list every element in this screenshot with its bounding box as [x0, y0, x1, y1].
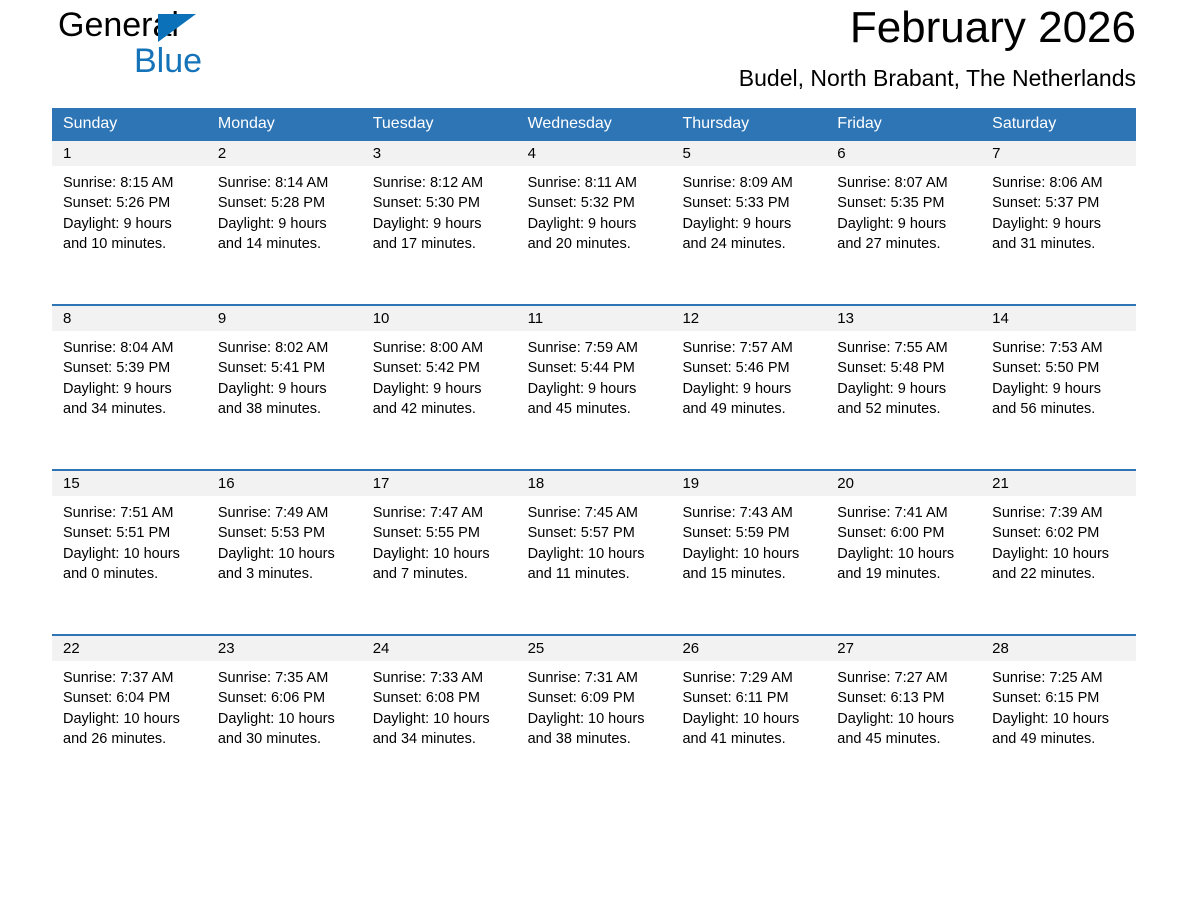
daylight-line2: and 15 minutes.	[682, 564, 820, 584]
day-number: 26	[671, 636, 826, 661]
week-row: 8 Sunrise: 8:04 AM Sunset: 5:39 PM Dayli…	[52, 304, 1136, 469]
day-number: 4	[517, 141, 672, 166]
daylight-line1: Daylight: 10 hours	[837, 709, 975, 729]
day-cell[interactable]: 6 Sunrise: 8:07 AM Sunset: 5:35 PM Dayli…	[826, 141, 981, 304]
sunrise-text: Sunrise: 8:04 AM	[63, 338, 201, 358]
day-info: Sunrise: 7:39 AM Sunset: 6:02 PM Dayligh…	[981, 496, 1136, 584]
daylight-line1: Daylight: 9 hours	[63, 379, 201, 399]
weekday-sunday: Sunday	[52, 108, 207, 139]
daylight-line1: Daylight: 9 hours	[528, 379, 666, 399]
day-number: 19	[671, 471, 826, 496]
day-cell[interactable]: 28 Sunrise: 7:25 AM Sunset: 6:15 PM Dayl…	[981, 636, 1136, 799]
daylight-line1: Daylight: 10 hours	[682, 709, 820, 729]
day-number: 25	[517, 636, 672, 661]
sunset-text: Sunset: 5:48 PM	[837, 358, 975, 378]
sunset-text: Sunset: 5:46 PM	[682, 358, 820, 378]
sunset-text: Sunset: 5:53 PM	[218, 523, 356, 543]
daylight-line2: and 30 minutes.	[218, 729, 356, 749]
weekday-monday: Monday	[207, 108, 362, 139]
day-info: Sunrise: 7:57 AM Sunset: 5:46 PM Dayligh…	[671, 331, 826, 419]
daylight-line2: and 27 minutes.	[837, 234, 975, 254]
daylight-line1: Daylight: 9 hours	[63, 214, 201, 234]
daylight-line1: Daylight: 9 hours	[218, 379, 356, 399]
sunrise-text: Sunrise: 7:57 AM	[682, 338, 820, 358]
sunset-text: Sunset: 5:57 PM	[528, 523, 666, 543]
daylight-line1: Daylight: 10 hours	[373, 709, 511, 729]
page-header: General Blue February 2026 Budel, North …	[52, 0, 1136, 108]
sunrise-text: Sunrise: 8:02 AM	[218, 338, 356, 358]
weekday-wednesday: Wednesday	[517, 108, 672, 139]
week-row: 15 Sunrise: 7:51 AM Sunset: 5:51 PM Dayl…	[52, 469, 1136, 634]
day-number: 7	[981, 141, 1136, 166]
day-number: 18	[517, 471, 672, 496]
sunrise-text: Sunrise: 7:49 AM	[218, 503, 356, 523]
day-number: 8	[52, 306, 207, 331]
day-number: 17	[362, 471, 517, 496]
sunrise-text: Sunrise: 8:07 AM	[837, 173, 975, 193]
sunset-text: Sunset: 6:08 PM	[373, 688, 511, 708]
weekday-thursday: Thursday	[671, 108, 826, 139]
day-cell[interactable]: 23 Sunrise: 7:35 AM Sunset: 6:06 PM Dayl…	[207, 636, 362, 799]
sunset-text: Sunset: 6:15 PM	[992, 688, 1130, 708]
sunrise-text: Sunrise: 8:11 AM	[528, 173, 666, 193]
day-cell[interactable]: 24 Sunrise: 7:33 AM Sunset: 6:08 PM Dayl…	[362, 636, 517, 799]
day-info: Sunrise: 8:02 AM Sunset: 5:41 PM Dayligh…	[207, 331, 362, 419]
day-number: 15	[52, 471, 207, 496]
generalblue-logo[interactable]: General Blue	[58, 6, 318, 92]
sunrise-text: Sunrise: 7:31 AM	[528, 668, 666, 688]
day-info: Sunrise: 7:29 AM Sunset: 6:11 PM Dayligh…	[671, 661, 826, 749]
sunrise-text: Sunrise: 8:00 AM	[373, 338, 511, 358]
day-cell[interactable]: 7 Sunrise: 8:06 AM Sunset: 5:37 PM Dayli…	[981, 141, 1136, 304]
daylight-line2: and 7 minutes.	[373, 564, 511, 584]
daylight-line2: and 52 minutes.	[837, 399, 975, 419]
daylight-line2: and 49 minutes.	[992, 729, 1130, 749]
day-number: 1	[52, 141, 207, 166]
daylight-line1: Daylight: 10 hours	[373, 544, 511, 564]
sunset-text: Sunset: 5:28 PM	[218, 193, 356, 213]
day-info: Sunrise: 7:45 AM Sunset: 5:57 PM Dayligh…	[517, 496, 672, 584]
day-info: Sunrise: 8:00 AM Sunset: 5:42 PM Dayligh…	[362, 331, 517, 419]
daylight-line2: and 26 minutes.	[63, 729, 201, 749]
sunset-text: Sunset: 5:32 PM	[528, 193, 666, 213]
daylight-line2: and 42 minutes.	[373, 399, 511, 419]
day-info: Sunrise: 8:06 AM Sunset: 5:37 PM Dayligh…	[981, 166, 1136, 254]
daylight-line1: Daylight: 9 hours	[837, 379, 975, 399]
day-cell[interactable]: 15 Sunrise: 7:51 AM Sunset: 5:51 PM Dayl…	[52, 471, 207, 634]
daylight-line1: Daylight: 10 hours	[218, 709, 356, 729]
daylight-line2: and 56 minutes.	[992, 399, 1130, 419]
day-cell[interactable]: 21 Sunrise: 7:39 AM Sunset: 6:02 PM Dayl…	[981, 471, 1136, 634]
sunrise-text: Sunrise: 7:45 AM	[528, 503, 666, 523]
sunset-text: Sunset: 5:41 PM	[218, 358, 356, 378]
daylight-line1: Daylight: 10 hours	[992, 709, 1130, 729]
day-cell[interactable]: 16 Sunrise: 7:49 AM Sunset: 5:53 PM Dayl…	[207, 471, 362, 634]
day-number: 6	[826, 141, 981, 166]
day-info: Sunrise: 7:43 AM Sunset: 5:59 PM Dayligh…	[671, 496, 826, 584]
day-info: Sunrise: 7:51 AM Sunset: 5:51 PM Dayligh…	[52, 496, 207, 584]
sunrise-text: Sunrise: 7:35 AM	[218, 668, 356, 688]
sunset-text: Sunset: 5:35 PM	[837, 193, 975, 213]
day-cell[interactable]: 4 Sunrise: 8:11 AM Sunset: 5:32 PM Dayli…	[517, 141, 672, 304]
day-number: 13	[826, 306, 981, 331]
daylight-line1: Daylight: 10 hours	[63, 544, 201, 564]
title-block: February 2026 Budel, North Brabant, The …	[376, 0, 1136, 94]
day-number: 27	[826, 636, 981, 661]
day-info: Sunrise: 7:31 AM Sunset: 6:09 PM Dayligh…	[517, 661, 672, 749]
daylight-line2: and 45 minutes.	[528, 399, 666, 419]
sunset-text: Sunset: 6:11 PM	[682, 688, 820, 708]
sunset-text: Sunset: 5:51 PM	[63, 523, 201, 543]
daylight-line2: and 49 minutes.	[682, 399, 820, 419]
daylight-line1: Daylight: 9 hours	[218, 214, 356, 234]
day-number: 5	[671, 141, 826, 166]
sunrise-text: Sunrise: 7:41 AM	[837, 503, 975, 523]
sunset-text: Sunset: 5:37 PM	[992, 193, 1130, 213]
weekday-friday: Friday	[826, 108, 981, 139]
daylight-line1: Daylight: 10 hours	[992, 544, 1130, 564]
sunrise-text: Sunrise: 8:06 AM	[992, 173, 1130, 193]
daylight-line1: Daylight: 10 hours	[528, 709, 666, 729]
sunrise-text: Sunrise: 7:59 AM	[528, 338, 666, 358]
week-row: 1 Sunrise: 8:15 AM Sunset: 5:26 PM Dayli…	[52, 139, 1136, 304]
day-number: 9	[207, 306, 362, 331]
sunrise-text: Sunrise: 8:09 AM	[682, 173, 820, 193]
daylight-line1: Daylight: 9 hours	[992, 214, 1130, 234]
daylight-line2: and 31 minutes.	[992, 234, 1130, 254]
sunset-text: Sunset: 5:44 PM	[528, 358, 666, 378]
daylight-line1: Daylight: 9 hours	[373, 379, 511, 399]
daylight-line2: and 38 minutes.	[218, 399, 356, 419]
logo-triangle-icon	[158, 14, 196, 42]
day-info: Sunrise: 8:04 AM Sunset: 5:39 PM Dayligh…	[52, 331, 207, 419]
day-cell[interactable]: 25 Sunrise: 7:31 AM Sunset: 6:09 PM Dayl…	[517, 636, 672, 799]
sunset-text: Sunset: 6:00 PM	[837, 523, 975, 543]
day-cell[interactable]: 18 Sunrise: 7:45 AM Sunset: 5:57 PM Dayl…	[517, 471, 672, 634]
sunrise-text: Sunrise: 7:53 AM	[992, 338, 1130, 358]
sunrise-text: Sunrise: 7:43 AM	[682, 503, 820, 523]
daylight-line1: Daylight: 9 hours	[373, 214, 511, 234]
daylight-line2: and 3 minutes.	[218, 564, 356, 584]
daylight-line2: and 10 minutes.	[63, 234, 201, 254]
daylight-line2: and 20 minutes.	[528, 234, 666, 254]
sunset-text: Sunset: 6:09 PM	[528, 688, 666, 708]
day-cell[interactable]: 5 Sunrise: 8:09 AM Sunset: 5:33 PM Dayli…	[671, 141, 826, 304]
day-cell[interactable]: 11 Sunrise: 7:59 AM Sunset: 5:44 PM Dayl…	[517, 306, 672, 469]
day-cell[interactable]: 8 Sunrise: 8:04 AM Sunset: 5:39 PM Dayli…	[52, 306, 207, 469]
day-number: 28	[981, 636, 1136, 661]
sunrise-text: Sunrise: 8:14 AM	[218, 173, 356, 193]
day-cell[interactable]: 27 Sunrise: 7:27 AM Sunset: 6:13 PM Dayl…	[826, 636, 981, 799]
daylight-line1: Daylight: 9 hours	[992, 379, 1130, 399]
day-info: Sunrise: 8:11 AM Sunset: 5:32 PM Dayligh…	[517, 166, 672, 254]
day-number: 14	[981, 306, 1136, 331]
page-subtitle: Budel, North Brabant, The Netherlands	[376, 62, 1136, 94]
day-info: Sunrise: 8:09 AM Sunset: 5:33 PM Dayligh…	[671, 166, 826, 254]
page-title: February 2026	[376, 0, 1136, 56]
day-number: 3	[362, 141, 517, 166]
sunset-text: Sunset: 5:30 PM	[373, 193, 511, 213]
daylight-line2: and 34 minutes.	[63, 399, 201, 419]
daylight-line1: Daylight: 9 hours	[682, 214, 820, 234]
sunset-text: Sunset: 5:55 PM	[373, 523, 511, 543]
daylight-line2: and 22 minutes.	[992, 564, 1130, 584]
day-cell[interactable]: 20 Sunrise: 7:41 AM Sunset: 6:00 PM Dayl…	[826, 471, 981, 634]
day-info: Sunrise: 8:07 AM Sunset: 5:35 PM Dayligh…	[826, 166, 981, 254]
day-info: Sunrise: 7:25 AM Sunset: 6:15 PM Dayligh…	[981, 661, 1136, 749]
sunset-text: Sunset: 5:39 PM	[63, 358, 201, 378]
sunrise-text: Sunrise: 7:51 AM	[63, 503, 201, 523]
day-info: Sunrise: 8:14 AM Sunset: 5:28 PM Dayligh…	[207, 166, 362, 254]
daylight-line2: and 17 minutes.	[373, 234, 511, 254]
day-info: Sunrise: 7:47 AM Sunset: 5:55 PM Dayligh…	[362, 496, 517, 584]
day-info: Sunrise: 7:35 AM Sunset: 6:06 PM Dayligh…	[207, 661, 362, 749]
sunrise-text: Sunrise: 8:15 AM	[63, 173, 201, 193]
day-info: Sunrise: 7:27 AM Sunset: 6:13 PM Dayligh…	[826, 661, 981, 749]
day-cell[interactable]: 10 Sunrise: 8:00 AM Sunset: 5:42 PM Dayl…	[362, 306, 517, 469]
day-cell[interactable]: 12 Sunrise: 7:57 AM Sunset: 5:46 PM Dayl…	[671, 306, 826, 469]
daylight-line2: and 11 minutes.	[528, 564, 666, 584]
daylight-line1: Daylight: 9 hours	[837, 214, 975, 234]
sunset-text: Sunset: 5:50 PM	[992, 358, 1130, 378]
weekday-saturday: Saturday	[981, 108, 1136, 139]
daylight-line1: Daylight: 10 hours	[528, 544, 666, 564]
daylight-line1: Daylight: 10 hours	[837, 544, 975, 564]
daylight-line1: Daylight: 9 hours	[682, 379, 820, 399]
sunset-text: Sunset: 6:13 PM	[837, 688, 975, 708]
day-number: 20	[826, 471, 981, 496]
weekday-header-row: Sunday Monday Tuesday Wednesday Thursday…	[52, 108, 1136, 139]
daylight-line2: and 38 minutes.	[528, 729, 666, 749]
daylight-line1: Daylight: 10 hours	[63, 709, 201, 729]
day-cell[interactable]: 22 Sunrise: 7:37 AM Sunset: 6:04 PM Dayl…	[52, 636, 207, 799]
day-info: Sunrise: 7:37 AM Sunset: 6:04 PM Dayligh…	[52, 661, 207, 749]
day-number: 23	[207, 636, 362, 661]
sunset-text: Sunset: 5:42 PM	[373, 358, 511, 378]
day-number: 22	[52, 636, 207, 661]
day-number: 24	[362, 636, 517, 661]
day-number: 12	[671, 306, 826, 331]
day-cell[interactable]: 13 Sunrise: 7:55 AM Sunset: 5:48 PM Dayl…	[826, 306, 981, 469]
day-cell[interactable]: 14 Sunrise: 7:53 AM Sunset: 5:50 PM Dayl…	[981, 306, 1136, 469]
sunset-text: Sunset: 6:02 PM	[992, 523, 1130, 543]
sunset-text: Sunset: 5:33 PM	[682, 193, 820, 213]
daylight-line2: and 34 minutes.	[373, 729, 511, 749]
day-info: Sunrise: 8:12 AM Sunset: 5:30 PM Dayligh…	[362, 166, 517, 254]
sunset-text: Sunset: 6:04 PM	[63, 688, 201, 708]
daylight-line2: and 24 minutes.	[682, 234, 820, 254]
day-cell[interactable]: 9 Sunrise: 8:02 AM Sunset: 5:41 PM Dayli…	[207, 306, 362, 469]
sunrise-text: Sunrise: 7:55 AM	[837, 338, 975, 358]
day-number: 16	[207, 471, 362, 496]
daylight-line1: Daylight: 10 hours	[682, 544, 820, 564]
logo-word-blue: Blue	[134, 42, 202, 80]
calendar-grid: Sunday Monday Tuesday Wednesday Thursday…	[52, 108, 1136, 799]
daylight-line2: and 0 minutes.	[63, 564, 201, 584]
sunrise-text: Sunrise: 7:37 AM	[63, 668, 201, 688]
sunrise-text: Sunrise: 7:27 AM	[837, 668, 975, 688]
day-cell[interactable]: 17 Sunrise: 7:47 AM Sunset: 5:55 PM Dayl…	[362, 471, 517, 634]
sunset-text: Sunset: 5:59 PM	[682, 523, 820, 543]
day-number: 21	[981, 471, 1136, 496]
day-info: Sunrise: 7:41 AM Sunset: 6:00 PM Dayligh…	[826, 496, 981, 584]
sunrise-text: Sunrise: 7:29 AM	[682, 668, 820, 688]
day-info: Sunrise: 8:15 AM Sunset: 5:26 PM Dayligh…	[52, 166, 207, 254]
sunset-text: Sunset: 6:06 PM	[218, 688, 356, 708]
sunrise-text: Sunrise: 7:47 AM	[373, 503, 511, 523]
daylight-line2: and 19 minutes.	[837, 564, 975, 584]
sunrise-text: Sunrise: 7:39 AM	[992, 503, 1130, 523]
daylight-line1: Daylight: 10 hours	[218, 544, 356, 564]
daylight-line1: Daylight: 9 hours	[528, 214, 666, 234]
sunrise-text: Sunrise: 7:25 AM	[992, 668, 1130, 688]
day-cell[interactable]: 19 Sunrise: 7:43 AM Sunset: 5:59 PM Dayl…	[671, 471, 826, 634]
day-number: 11	[517, 306, 672, 331]
daylight-line2: and 41 minutes.	[682, 729, 820, 749]
calendar-page: General Blue February 2026 Budel, North …	[0, 0, 1188, 918]
day-cell[interactable]: 1 Sunrise: 8:15 AM Sunset: 5:26 PM Dayli…	[52, 141, 207, 304]
day-number: 2	[207, 141, 362, 166]
daylight-line2: and 45 minutes.	[837, 729, 975, 749]
week-row: 22 Sunrise: 7:37 AM Sunset: 6:04 PM Dayl…	[52, 634, 1136, 799]
day-info: Sunrise: 7:53 AM Sunset: 5:50 PM Dayligh…	[981, 331, 1136, 419]
sunset-text: Sunset: 5:26 PM	[63, 193, 201, 213]
weekday-tuesday: Tuesday	[362, 108, 517, 139]
day-info: Sunrise: 7:49 AM Sunset: 5:53 PM Dayligh…	[207, 496, 362, 584]
day-cell[interactable]: 26 Sunrise: 7:29 AM Sunset: 6:11 PM Dayl…	[671, 636, 826, 799]
day-info: Sunrise: 7:33 AM Sunset: 6:08 PM Dayligh…	[362, 661, 517, 749]
sunrise-text: Sunrise: 8:12 AM	[373, 173, 511, 193]
day-cell[interactable]: 3 Sunrise: 8:12 AM Sunset: 5:30 PM Dayli…	[362, 141, 517, 304]
day-number: 10	[362, 306, 517, 331]
day-info: Sunrise: 7:55 AM Sunset: 5:48 PM Dayligh…	[826, 331, 981, 419]
sunrise-text: Sunrise: 7:33 AM	[373, 668, 511, 688]
day-info: Sunrise: 7:59 AM Sunset: 5:44 PM Dayligh…	[517, 331, 672, 419]
daylight-line2: and 14 minutes.	[218, 234, 356, 254]
day-cell[interactable]: 2 Sunrise: 8:14 AM Sunset: 5:28 PM Dayli…	[207, 141, 362, 304]
